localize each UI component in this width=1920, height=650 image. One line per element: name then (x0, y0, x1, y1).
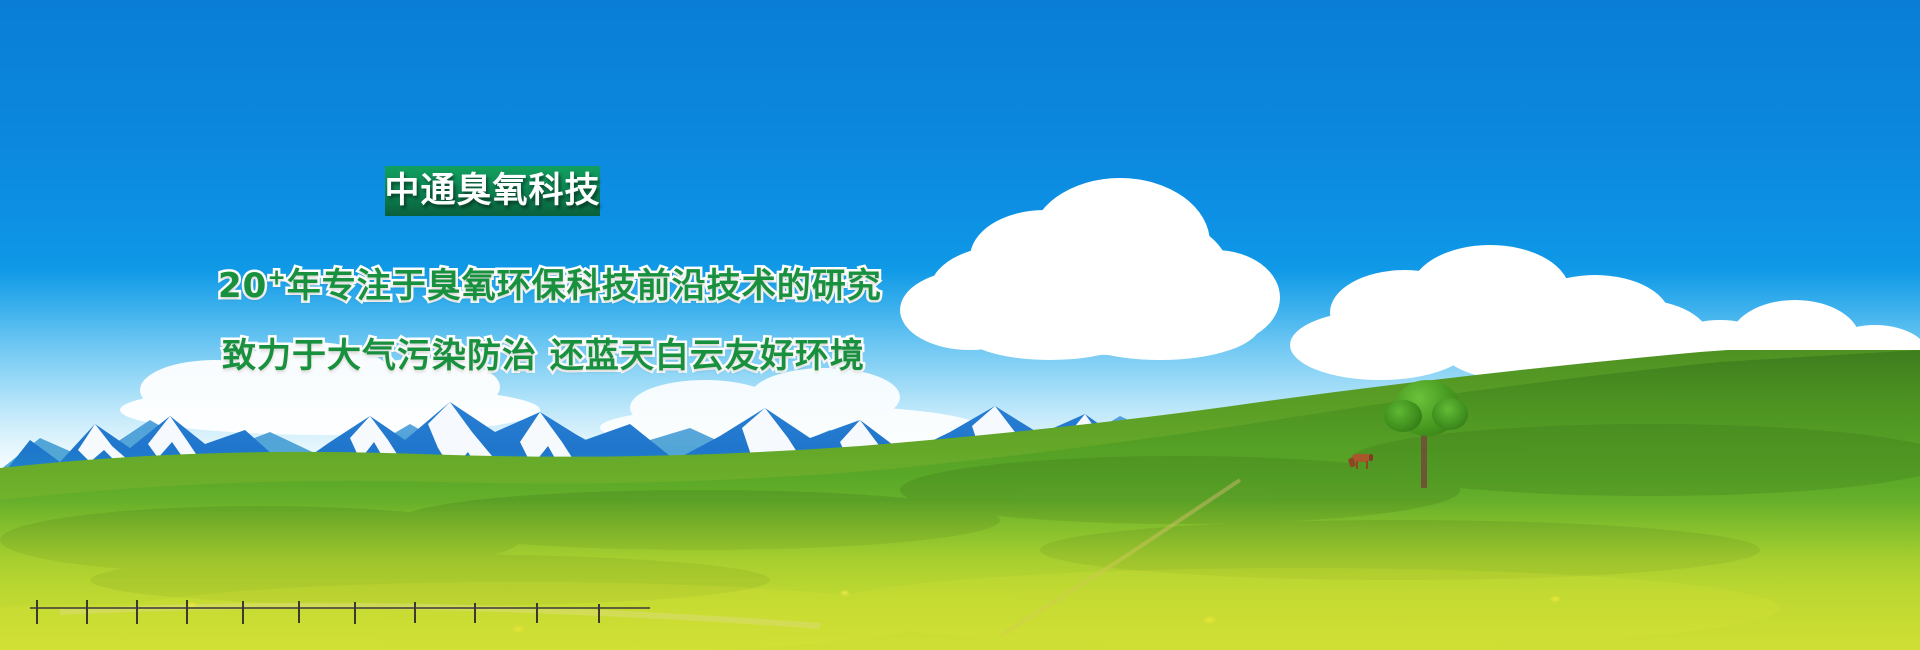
tagline-1-superscript: + (267, 266, 286, 291)
grazing-horse (1348, 452, 1374, 470)
tagline-line-1[interactable]: 20+年专注于臭氧环保科技前沿技术的研究 (218, 258, 882, 307)
tagline-line-2[interactable]: 致力于大气污染防治 还蓝天白云友好环境 (222, 328, 865, 377)
brand-name: 中通臭氧科技 (385, 174, 601, 209)
tree-canopy-lobe-left (1384, 400, 1422, 432)
tagline-2-text: 致力于大气污染防治 还蓝天白云友好环境 (222, 336, 865, 376)
tree-trunk (1421, 430, 1427, 488)
hero-banner: 中通臭氧科技 20+年专注于臭氧环保科技前沿技术的研究 致力于大气污染防治 还蓝… (0, 0, 1920, 650)
brand-badge[interactable]: 中通臭氧科技 (385, 166, 600, 216)
tree-canopy-lobe-right (1432, 398, 1468, 430)
lone-tree (1380, 378, 1470, 488)
wooden-fence (30, 600, 650, 626)
wildflower-field (0, 500, 1920, 650)
tagline-1-prefix: 20 (218, 266, 267, 306)
tagline-1-text: 年专注于臭氧环保科技前沿技术的研究 (287, 266, 882, 306)
